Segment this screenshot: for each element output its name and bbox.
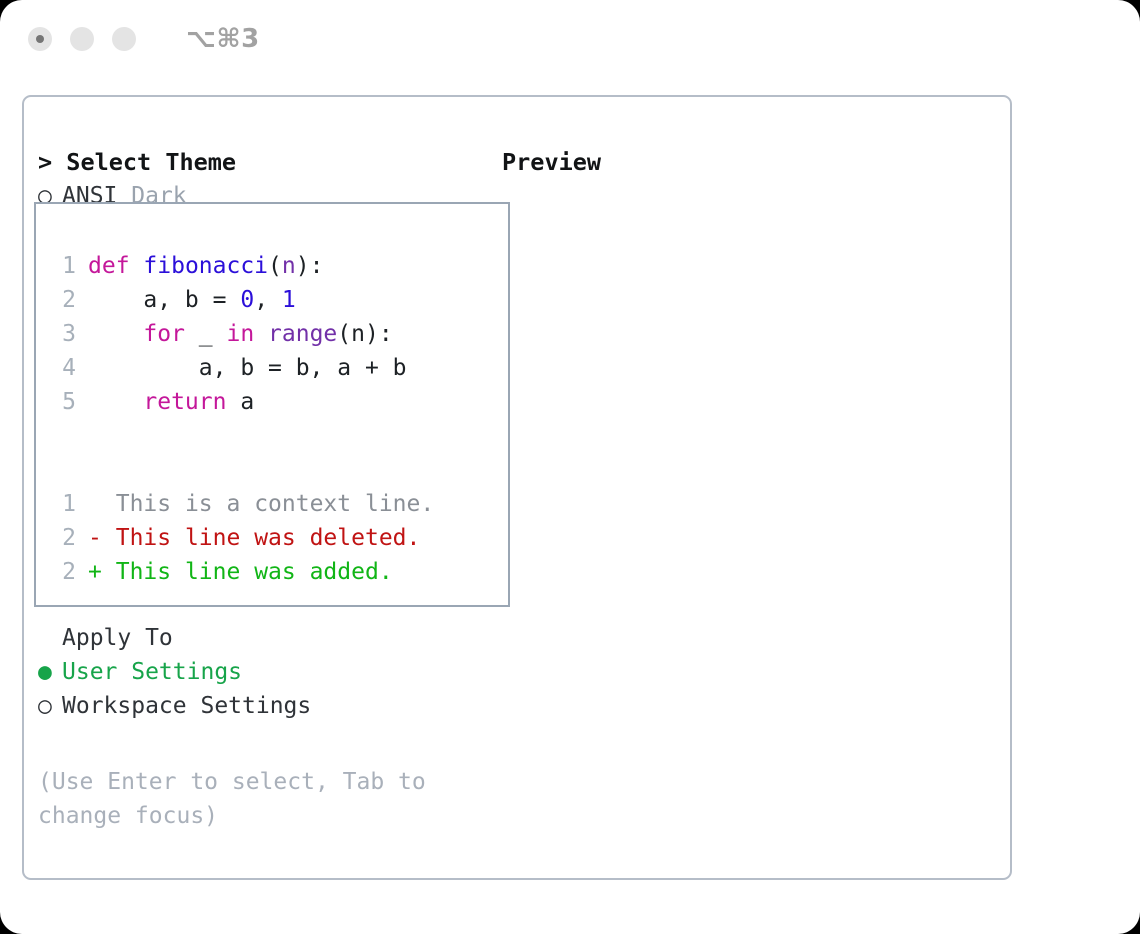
- apply-to-heading: Apply To: [38, 621, 498, 655]
- code-token: return: [143, 389, 226, 415]
- apply-to-option-label: Workspace Settings: [62, 693, 311, 719]
- preview-column: Preview: [502, 145, 1002, 179]
- apply-to-heading-indent: [38, 621, 62, 655]
- preview-box: 1def fibonacci(n):2 a, b = 0, 13 for _ i…: [34, 202, 510, 607]
- keyboard-hint-text: (Use Enter to select, Tab to change focu…: [38, 765, 458, 833]
- code-blank-line: [50, 419, 434, 453]
- apply-to-option[interactable]: ○Workspace Settings: [38, 689, 498, 723]
- line-number: 1: [50, 249, 76, 283]
- diff-text: This is a context line.: [116, 491, 435, 517]
- line-number: 1: [50, 487, 76, 521]
- code-token: ,: [254, 287, 282, 313]
- diff-marker-gap: [102, 491, 116, 517]
- code-line: 2 a, b = 0, 1: [50, 283, 434, 317]
- code-token: (n):: [337, 321, 392, 347]
- code-token: [130, 253, 144, 279]
- diff-line: 2+ This line was added.: [50, 555, 434, 589]
- code-token: fibonacci: [143, 253, 268, 279]
- radio-unselected-icon: ○: [38, 689, 62, 723]
- code-token: def: [88, 253, 130, 279]
- apply-to-heading-label: Apply To: [62, 625, 173, 651]
- code-line: 1def fibonacci(n):: [50, 249, 434, 283]
- line-number: 3: [50, 317, 76, 351]
- keyboard-shortcut-label: ⌥⌘3: [186, 24, 260, 54]
- code-token: n: [282, 253, 296, 279]
- diff-marker: [88, 491, 102, 517]
- line-number: 2: [50, 283, 76, 317]
- diff-marker: +: [88, 559, 102, 585]
- diff-text: This line was added.: [116, 559, 393, 585]
- code-token: [88, 321, 143, 347]
- radio-selected-icon: ●: [38, 655, 62, 689]
- apply-to-option[interactable]: ●User Settings: [38, 655, 498, 689]
- diff-marker-gap: [102, 525, 116, 551]
- diff-marker-gap: [102, 559, 116, 585]
- window-titlebar: ⌥⌘3: [0, 0, 1140, 78]
- diff-text: This line was deleted.: [116, 525, 421, 551]
- theme-selector-panel: > Select Theme ○ANSI Dark○Atom One Dark○…: [22, 95, 1012, 880]
- diff-line: 1 This is a context line.: [50, 487, 434, 521]
- window-controls: [28, 27, 136, 51]
- window-dot-third[interactable]: [112, 27, 136, 51]
- code-token: [254, 321, 268, 347]
- line-number: 2: [50, 521, 76, 555]
- code-token: 1: [282, 287, 296, 313]
- code-token: (: [268, 253, 282, 279]
- code-token: ):: [296, 253, 324, 279]
- select-theme-heading: > Select Theme: [38, 145, 498, 179]
- code-token: range: [268, 321, 337, 347]
- code-token: a: [226, 389, 254, 415]
- code-token: [88, 389, 143, 415]
- window-dot-active[interactable]: [28, 27, 52, 51]
- code-line: 4 a, b = b, a + b: [50, 351, 434, 385]
- code-token: for: [143, 321, 185, 347]
- line-number: 5: [50, 385, 76, 419]
- diff-marker: -: [88, 525, 102, 551]
- code-token: a, b =: [88, 287, 240, 313]
- line-number: 4: [50, 351, 76, 385]
- line-number: 2: [50, 555, 76, 589]
- code-token: a, b = b, a + b: [88, 355, 407, 381]
- code-token: 0: [240, 287, 254, 313]
- app-window: ⌥⌘3 > Select Theme ○ANSI Dark○Atom One D…: [0, 0, 1140, 934]
- window-dot-active-center: [36, 35, 44, 43]
- code-preview: 1def fibonacci(n):2 a, b = 0, 13 for _ i…: [50, 249, 434, 589]
- window-dot-second[interactable]: [70, 27, 94, 51]
- apply-to-option-label: User Settings: [62, 659, 242, 685]
- apply-to-list: ●User Settings○Workspace Settings: [38, 655, 498, 723]
- code-token: in: [226, 321, 254, 347]
- code-blank-line: [50, 453, 434, 487]
- code-token: _: [185, 321, 227, 347]
- code-line: 3 for _ in range(n):: [50, 317, 434, 351]
- code-line: 5 return a: [50, 385, 434, 419]
- preview-heading: Preview: [502, 145, 1002, 179]
- diff-line: 2- This line was deleted.: [50, 521, 434, 555]
